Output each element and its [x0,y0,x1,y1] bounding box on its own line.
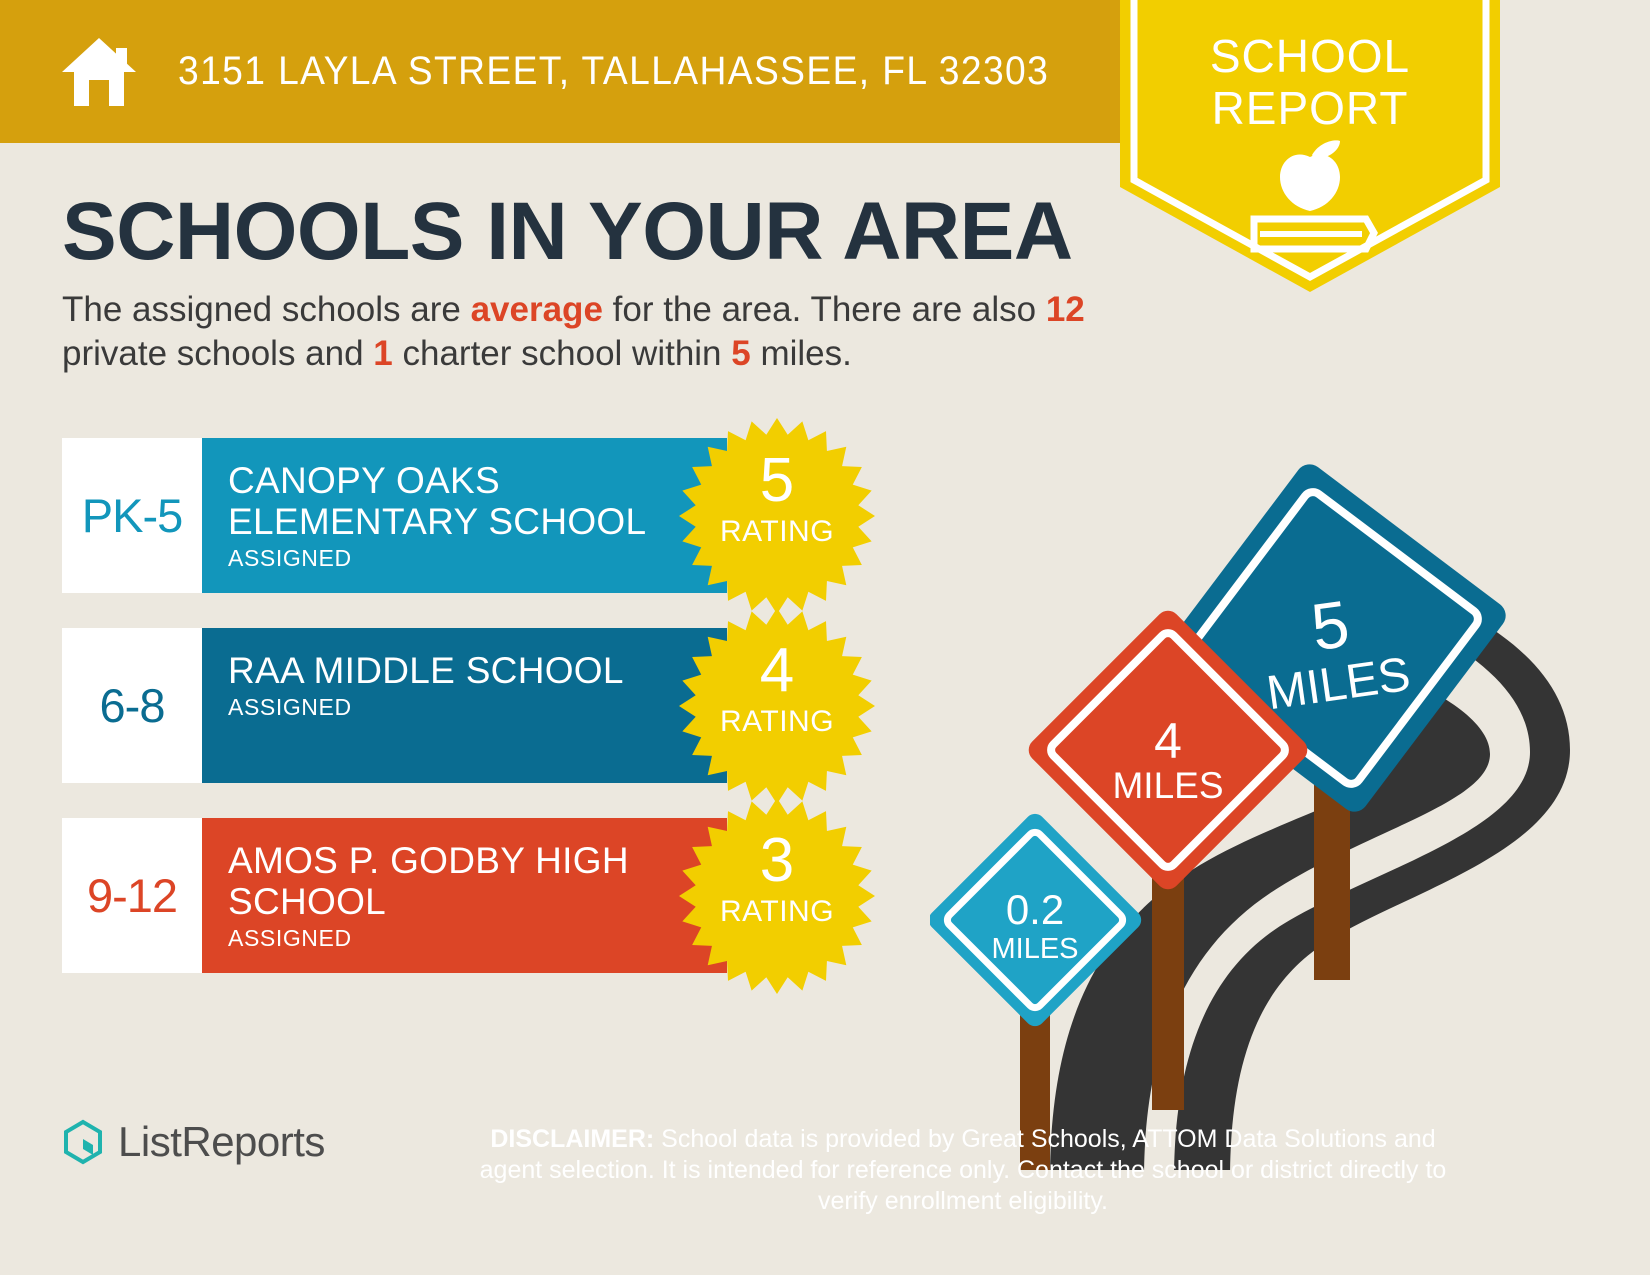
rating-badge: 3RATING [677,796,877,996]
summary-fragment: The assigned schools are [62,290,471,329]
grade-range-box: PK-5 [62,438,202,593]
school-status: ASSIGNED [228,694,727,721]
summary-highlight: 12 [1046,290,1085,329]
school-name: RAA MIDDLE SCHOOL [228,650,727,691]
road-signs-illustration: 5 MILES 4 MILES 0.2 MILES [930,420,1650,1170]
school-report-badge: SCHOOL REPORT [1120,0,1500,297]
grade-range-label: 9-12 [87,868,177,923]
school-bar: AMOS P. GODBY HIGH SCHOOLASSIGNED [202,818,727,973]
summary-fragment: miles. [751,334,852,373]
rating-value: 4 [677,640,877,702]
summary-fragment: for the area. There are also [603,290,1046,329]
rating-value: 5 [677,450,877,512]
school-report-infographic: 3151 LAYLA STREET, TALLAHASSEE, FL 32303… [0,0,1650,1275]
grade-range-box: 6-8 [62,628,202,783]
grade-range-label: PK-5 [82,488,183,543]
listreports-logo-text: ListReports [118,1118,325,1166]
summary-highlight: 5 [731,334,750,373]
badge-title: SCHOOL REPORT [1120,30,1500,134]
disclaimer-text: DISCLAIMER: School data is provided by G… [458,1124,1468,1217]
road-sign-02-value: 0.2 [1006,886,1064,933]
rating-value: 3 [677,830,877,892]
rating-badge: 5RATING [677,416,877,616]
listreports-house-pin-icon [62,1119,104,1165]
school-name: CANOPY OAKS ELEMENTARY SCHOOL [228,460,727,542]
school-status: ASSIGNED [228,545,727,572]
grade-range-box: 9-12 [62,818,202,973]
rating-label: RATING [677,706,877,738]
school-status: ASSIGNED [228,925,727,952]
school-bar: RAA MIDDLE SCHOOLASSIGNED [202,628,727,783]
listreports-logo[interactable]: ListReports [62,1118,325,1166]
rating-label: RATING [677,516,877,548]
summary-fragment: private schools and [62,334,373,373]
school-bar: CANOPY OAKS ELEMENTARY SCHOOLASSIGNED [202,438,727,593]
school-row[interactable]: 9-12AMOS P. GODBY HIGH SCHOOLASSIGNED3RA… [62,818,882,973]
rating-label: RATING [677,896,877,928]
school-name: AMOS P. GODBY HIGH SCHOOL [228,840,727,922]
badge-title-line2: REPORT [1120,82,1500,134]
road-sign-4-value: 4 [1154,713,1182,769]
home-icon [60,36,138,108]
school-list: PK-5CANOPY OAKS ELEMENTARY SCHOOLASSIGNE… [62,438,882,1008]
header-bar: 3151 LAYLA STREET, TALLAHASSEE, FL 32303 [0,0,1210,143]
road-sign-02-unit: MILES [991,933,1078,965]
school-row[interactable]: PK-5CANOPY OAKS ELEMENTARY SCHOOLASSIGNE… [62,438,882,593]
summary-highlight: average [471,290,603,329]
page-title: SCHOOLS IN YOUR AREA [62,190,1073,274]
summary-fragment: charter school within [393,334,731,373]
road-sign-4-unit: MILES [1112,765,1223,806]
disclaimer-label: DISCLAIMER: [490,1125,654,1153]
badge-title-line1: SCHOOL [1120,30,1500,82]
summary-highlight: 1 [373,334,392,373]
grade-range-label: 6-8 [100,678,165,733]
property-address: 3151 LAYLA STREET, TALLAHASSEE, FL 32303 [178,49,1049,94]
summary-text: The assigned schools are average for the… [62,288,1142,376]
rating-badge: 4RATING [677,606,877,806]
school-row[interactable]: 6-8RAA MIDDLE SCHOOLASSIGNED4RATING [62,628,882,783]
